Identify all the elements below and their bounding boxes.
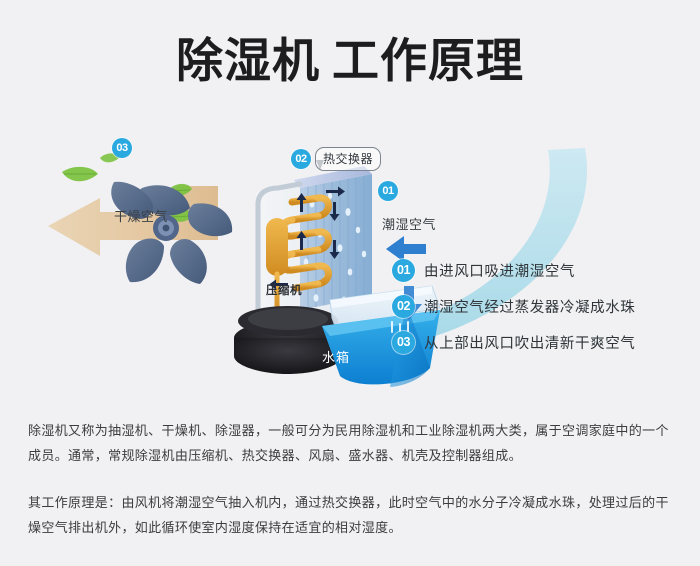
body-copy: 除湿机又称为抽湿机、干燥机、除湿器，一般可分为民用除湿机和工业除湿机两大类，属于… bbox=[28, 418, 676, 540]
legend-list: 01 由进风口吸进潮湿空气 02 潮湿空气经过蒸发器冷凝成水珠 03 从上部出风… bbox=[392, 252, 692, 360]
badge-heat-exchanger: 02 bbox=[291, 149, 311, 169]
legend-item-02: 02 潮湿空气经过蒸发器冷凝成水珠 bbox=[392, 288, 692, 324]
legend-badge-02: 02 bbox=[392, 295, 415, 318]
label-humid-air: 潮湿空气 bbox=[382, 214, 436, 233]
label-heat-exchanger: 热交换器 bbox=[315, 147, 381, 171]
legend-text-01: 由进风口吸进潮湿空气 bbox=[424, 260, 575, 281]
label-compressor: 压缩机 bbox=[266, 282, 302, 298]
title-part-a: 除湿机 bbox=[176, 34, 320, 87]
legend-item-01: 01 由进风口吸进潮湿空气 bbox=[392, 252, 692, 288]
paragraph-2: 其工作原理是：由风机将潮湿空气抽入机内，通过热交换器，此时空气中的水分子冷凝成水… bbox=[28, 490, 676, 540]
title-text: 除湿机工作原理 bbox=[176, 32, 524, 90]
legend-item-03: 03 从上部出风口吹出清新干爽空气 bbox=[392, 324, 692, 360]
badge-humid-air: 01 bbox=[378, 181, 398, 201]
label-water-tank: 水箱 bbox=[322, 347, 350, 366]
page-root: 除湿机工作原理 bbox=[0, 0, 700, 566]
legend-text-03: 从上部出风口吹出清新干爽空气 bbox=[424, 332, 635, 353]
page-title: 除湿机工作原理 bbox=[0, 32, 700, 90]
legend-badge-03: 03 bbox=[392, 331, 415, 354]
label-dry-air: 干燥空气 bbox=[114, 206, 168, 225]
paragraph-1: 除湿机又称为抽湿机、干燥机、除湿器，一般可分为民用除湿机和工业除湿机两大类，属于… bbox=[28, 418, 676, 468]
legend-badge-01: 01 bbox=[392, 259, 415, 282]
title-part-b: 工作原理 bbox=[332, 34, 524, 87]
badge-dry-air: 03 bbox=[112, 138, 132, 158]
legend-text-02: 潮湿空气经过蒸发器冷凝成水珠 bbox=[424, 296, 635, 317]
